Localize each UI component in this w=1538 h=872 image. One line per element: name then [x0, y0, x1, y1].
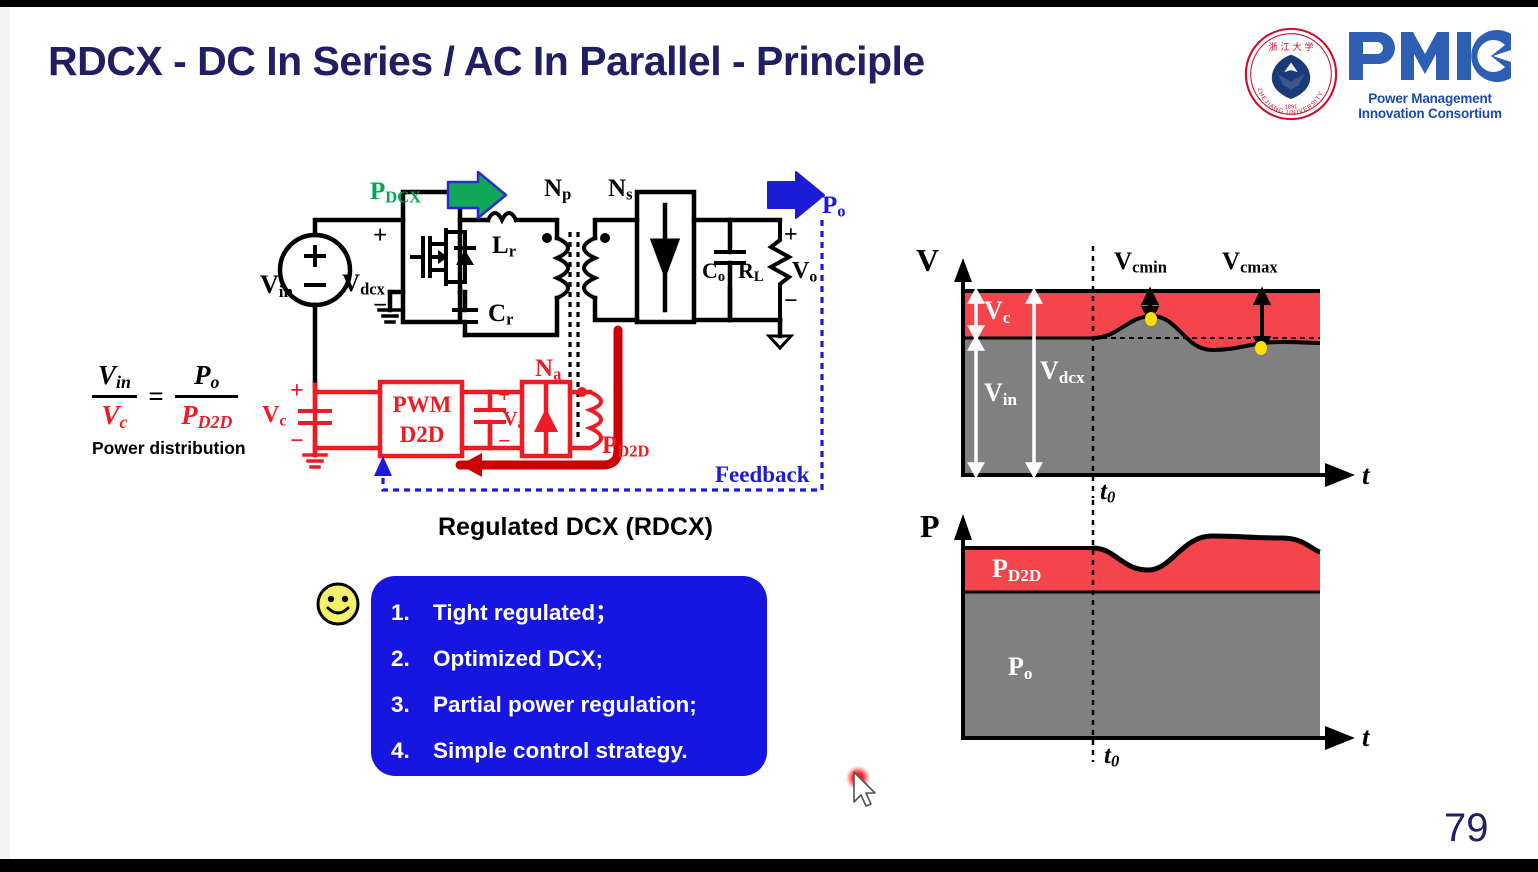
label-va-minus: − — [498, 428, 511, 454]
voltage-axis-label: V — [916, 242, 939, 279]
power-axis-label: P — [920, 508, 940, 545]
mouse-cursor — [840, 762, 894, 812]
power-distribution-caption: Power distribution — [92, 438, 246, 459]
label-p-dcx: PDCX — [370, 178, 421, 208]
list-item: 4. Simple control strategy. — [381, 728, 767, 774]
label-n-p: Np — [544, 175, 571, 205]
list-item: 2. Optimized DCX; — [381, 636, 767, 682]
list-item-number: 3. — [381, 682, 433, 728]
circuit-caption: Regulated DCX (RDCX) — [438, 513, 713, 542]
list-item-label: Tight regulated； — [433, 590, 618, 636]
label-t0-power: t0 — [1104, 742, 1119, 772]
list-item-label: Simple control strategy. — [433, 728, 688, 774]
label-vdcx-minus: − — [373, 292, 387, 320]
label-va-plus: + — [498, 382, 511, 408]
list-item-number: 2. — [381, 636, 433, 682]
pmic-tagline-line1: Power Management — [1345, 91, 1515, 106]
smiley-face-icon — [314, 580, 362, 628]
list-item: 3. Partial power regulation; — [381, 682, 767, 728]
slide-canvas: RDCX - DC In Series / AC In Parallel - P… — [0, 0, 1538, 872]
label-vo-plus: + — [784, 222, 798, 249]
label-n-a: Na — [535, 355, 561, 385]
voltage-waveform-chart: V t Vc Vin Vdcx Vcmin Vcmax t0 — [900, 230, 1400, 520]
equals-sign: = — [141, 381, 170, 412]
pmic-wordmark-icon — [1345, 26, 1515, 86]
pmic-tagline-line2: Innovation Consortium — [1345, 106, 1515, 121]
page-title: RDCX - DC In Series / AC In Parallel - P… — [48, 38, 925, 85]
list-item-label: Partial power regulation; — [433, 682, 697, 728]
label-vcmax: Vcmax — [1222, 248, 1278, 278]
list-item-label: Optimized DCX; — [433, 636, 603, 682]
label-po-band: Po — [1008, 652, 1032, 684]
power-waveform-chart: P t PD2D Po t0 — [900, 500, 1400, 790]
label-p-o: Po — [822, 192, 846, 222]
bottom-black-bar — [0, 859, 1538, 872]
label-vc-minus: − — [290, 428, 304, 455]
label-n-s: Ns — [608, 175, 632, 205]
zhejiang-university-logo: 浙 江 大 学 1891 ZHEJIANG UNIVERSITY — [1243, 26, 1339, 122]
label-v-c: Vc — [262, 402, 286, 430]
label-l-r: Lr — [492, 232, 516, 262]
label-r-l: RL — [738, 258, 764, 286]
label-vc-plus: + — [290, 378, 304, 405]
pmic-logo: Power Management Innovation Consortium — [1345, 26, 1515, 126]
label-pwm-d2d: PWM D2D — [391, 390, 453, 450]
benefits-list-box: 1. Tight regulated； 2. Optimized DCX; 3.… — [371, 576, 767, 776]
label-v-o: Vo — [792, 258, 817, 286]
label-c-o: Co — [702, 258, 725, 286]
label-c-r: Cr — [488, 300, 513, 330]
page-number: 79 — [1444, 806, 1489, 851]
label-vin-band: Vin — [984, 378, 1017, 410]
svg-text:浙 江 大 学: 浙 江 大 学 — [1268, 41, 1313, 53]
list-item-number: 1. — [381, 590, 433, 636]
label-v-in: Vin — [260, 270, 293, 302]
label-p-d2d: PD2D — [602, 432, 649, 462]
label-vdcx-band: Vdcx — [1040, 356, 1085, 388]
time-axis-label: t — [1362, 460, 1370, 491]
label-vdcx-plus: + — [373, 222, 387, 250]
label-vc-band: Vc — [984, 296, 1010, 328]
label-vo-minus: − — [784, 288, 798, 315]
label-vcmin: Vcmin — [1114, 248, 1167, 278]
left-edge-strip — [0, 7, 10, 859]
pwm-line1: PWM — [391, 390, 453, 420]
label-pd2d-band: PD2D — [992, 554, 1041, 586]
equation-lhs: Vin Vc — [92, 360, 137, 433]
label-feedback: Feedback — [715, 462, 810, 488]
time-axis-label-power: t — [1362, 722, 1370, 753]
rdcx-circuit-diagram: PDCX Po Vin Vdcx + − Lr Cr Np Ns Na Co — [260, 170, 850, 510]
top-black-bar — [0, 0, 1538, 7]
pwm-line2: D2D — [391, 420, 453, 450]
list-item: 1. Tight regulated； — [381, 590, 767, 636]
list-item-number: 4. — [381, 728, 433, 774]
equation-rhs: Po PD2D — [175, 360, 238, 433]
